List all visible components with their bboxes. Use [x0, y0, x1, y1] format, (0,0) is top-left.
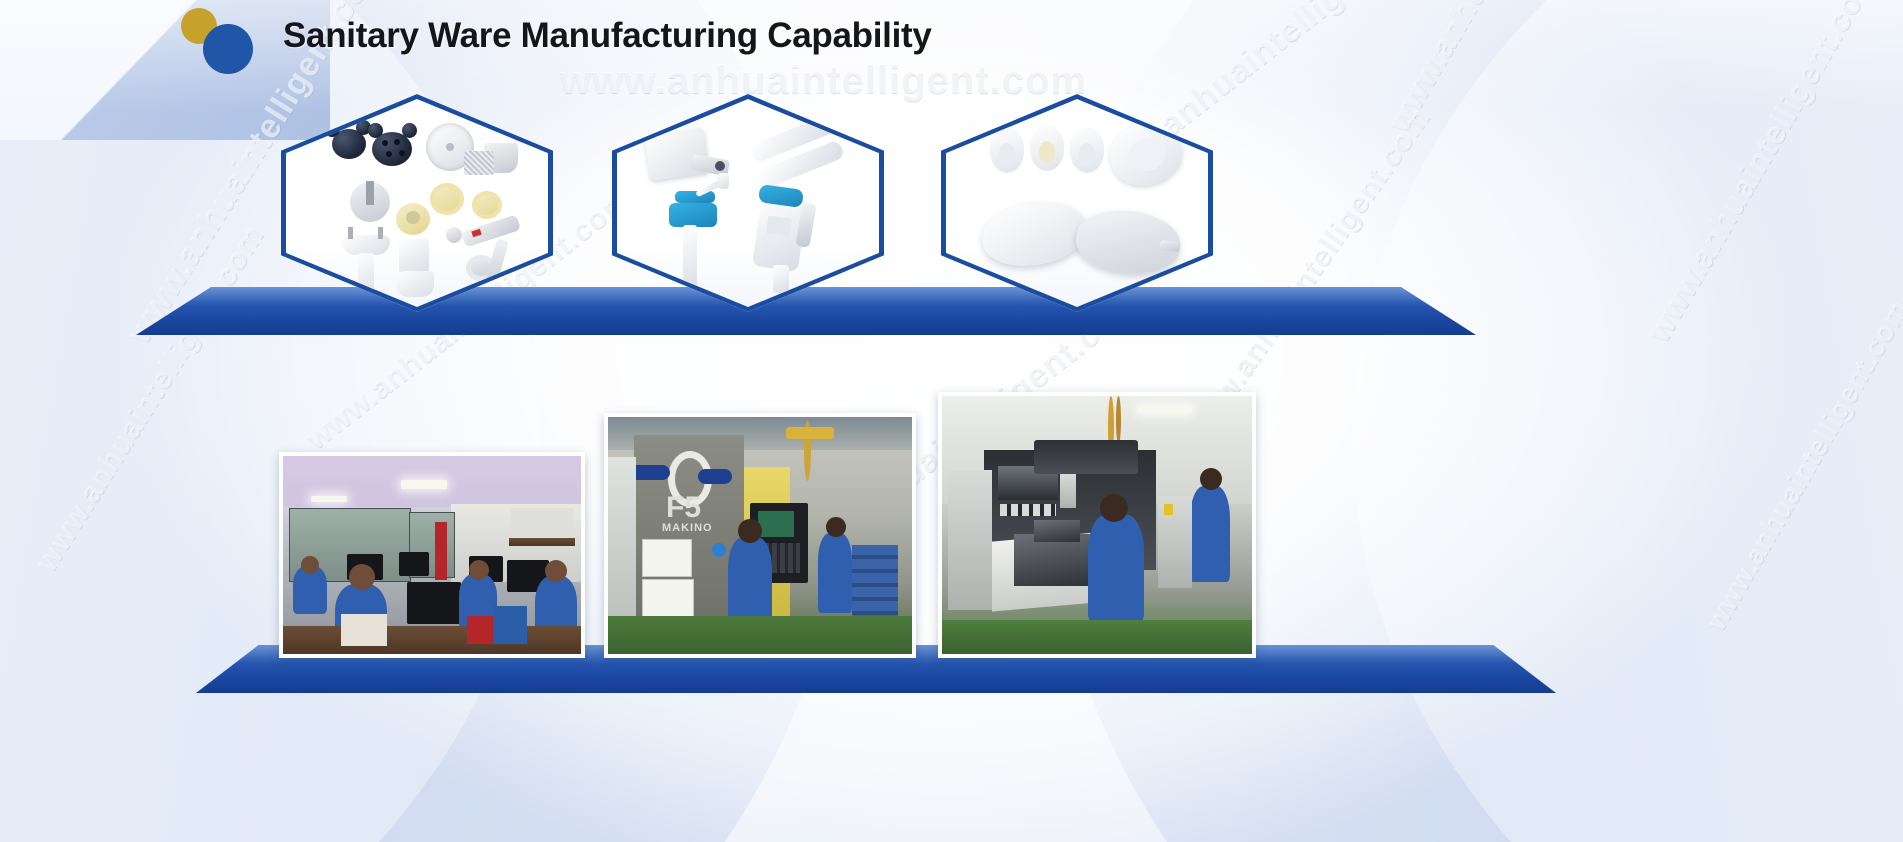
mill-ceiling-lamp-icon: [1138, 406, 1192, 413]
mill-scene: [942, 396, 1252, 654]
mill-technician-back: [1190, 486, 1230, 582]
flush-valve-label-icon: [766, 215, 792, 236]
bushing-bore-icon: [406, 211, 420, 224]
mill-machine-head: [1034, 440, 1138, 474]
blue-dot-icon: [203, 24, 253, 74]
metal-mesh-screen-icon: [464, 151, 494, 175]
cnc-access-door: [608, 457, 636, 637]
strainer-hub-icon: [446, 143, 454, 151]
cream-gear-large-icon: [430, 183, 464, 215]
wooden-shelf: [509, 538, 575, 546]
title-decoration-dots: [181, 8, 261, 74]
mill-spindle-icon: [1060, 474, 1076, 508]
mill-machine-column-left: [948, 470, 992, 610]
products-banner: [136, 287, 1476, 335]
mill-workpiece-step-icon: [1034, 520, 1080, 542]
slide-canvas: www.anhuaintelligent.comwww.anhuaintelli…: [0, 0, 1903, 842]
office-scene: [283, 456, 581, 654]
black-disc-lobe2-icon: [402, 123, 417, 138]
cnc-operator-back-head: [826, 517, 846, 537]
wall-cabinet: [511, 508, 573, 538]
workshop-floor: [608, 616, 912, 654]
toilet-bowl-icon: [396, 271, 434, 297]
mill-floor: [942, 620, 1252, 654]
photo-frame: F5 MAKINO: [608, 417, 912, 654]
disc-hole-1: [382, 140, 388, 146]
banner-sheen: [136, 287, 1476, 306]
seat-sample-2-hole-icon: [1039, 141, 1055, 163]
mill-warning-label-icon: [1164, 504, 1173, 515]
office-worker-2-head: [349, 564, 375, 590]
disc-hole-4: [399, 150, 405, 156]
cnc-badge-icon: [698, 469, 732, 484]
page-title: Sanitary Ware Manufacturing Capability: [283, 16, 932, 56]
desk-paper-stack: [341, 614, 387, 646]
seat-sample-3-hole-icon: [1079, 143, 1095, 165]
toilet-cistern-icon: [399, 239, 429, 273]
facility-photo-engineering-office[interactable]: [279, 452, 585, 658]
chrome-tool-body-icon: [461, 214, 521, 247]
ceiling-lamp-2-icon: [311, 496, 347, 502]
ceiling-lamp-1-icon: [401, 480, 447, 489]
office-worker-1-head: [301, 556, 319, 574]
photo-frame: [283, 456, 581, 654]
chrome-tool-knob-icon: [446, 227, 462, 243]
mill-technician-front-head: [1100, 494, 1128, 522]
grey-disc-stem-icon: [366, 181, 374, 205]
photo-frame: [942, 396, 1252, 654]
cream-gear-small-icon: [472, 191, 502, 219]
closed-seat-cover-white-icon: [978, 195, 1090, 273]
mill-switch-row-icon: [1000, 504, 1056, 516]
office-worker-4-head: [545, 560, 567, 582]
cnc-control-screen-icon: [758, 511, 794, 537]
fill-valve-float-icon: [717, 173, 729, 189]
overhead-hoist-icon: [786, 427, 834, 439]
seat-hinge-icon: [1160, 240, 1181, 252]
facility-photo-cnc-machining-center[interactable]: F5 MAKINO: [604, 413, 916, 658]
cnc-notice-sheet-1: [642, 539, 692, 577]
disc-hole-3: [386, 151, 392, 157]
flush-valve-outlet-icon: [773, 265, 789, 293]
office-worker-3-head: [469, 560, 489, 580]
cnc-operator-back: [818, 533, 852, 613]
disc-hole-2: [394, 139, 400, 145]
monitor-5-icon: [407, 582, 461, 624]
cnc-blue-indicator-icon: [712, 543, 726, 557]
black-disc-lobe-icon: [368, 123, 383, 138]
cnc-scene: F5 MAKINO: [608, 417, 912, 654]
mill-hanging-cable-2-icon: [1116, 396, 1121, 444]
makino-badge-icon: [630, 465, 670, 480]
push-plate-button-icon: [715, 161, 725, 171]
machine-brand-label: MAKINO: [662, 523, 713, 534]
blue-fill-valve-cap-icon: [669, 203, 717, 227]
facility-photo-mould-milling-machine[interactable]: [938, 392, 1256, 658]
seat-sample-1-hole-icon: [999, 143, 1015, 165]
basin-tap-left-icon: [348, 227, 353, 239]
desk-books: [493, 606, 527, 644]
mill-technician-back-head: [1200, 468, 1222, 490]
mill-technician-front: [1088, 514, 1144, 622]
office-desk-front: [283, 626, 581, 654]
desk-red-binder: [467, 616, 493, 644]
tool-cabinet-icon: [852, 545, 898, 621]
basin-tap-right-icon: [378, 227, 383, 239]
red-door-frame: [435, 522, 447, 580]
monitor-2-icon: [399, 552, 429, 576]
machine-model-label: F5: [666, 493, 701, 523]
cnc-operator-front-head: [738, 519, 762, 543]
